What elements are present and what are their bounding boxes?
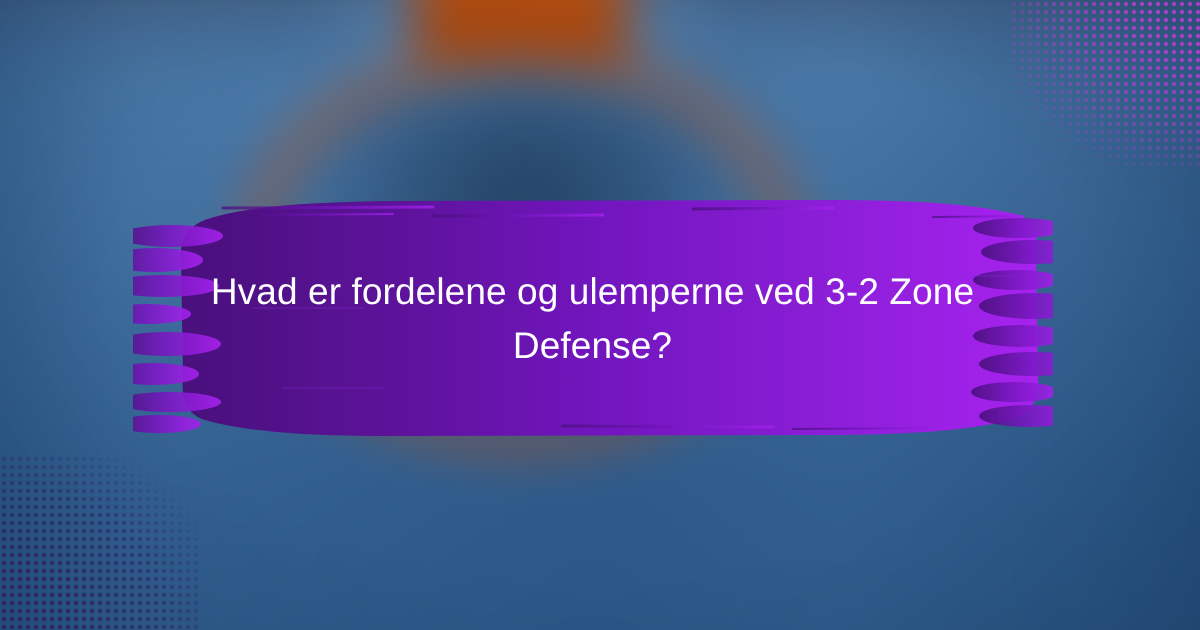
title-line-2: Defense?	[160, 319, 1025, 373]
card-title: Hvad er fordelene og ulemperne ved 3-2 Z…	[160, 265, 1025, 373]
title-line-1: Hvad er fordelene og ulemperne ved 3-2 Z…	[160, 265, 1025, 319]
share-card: Hvad er fordelene og ulemperne ved 3-2 Z…	[0, 0, 1200, 630]
